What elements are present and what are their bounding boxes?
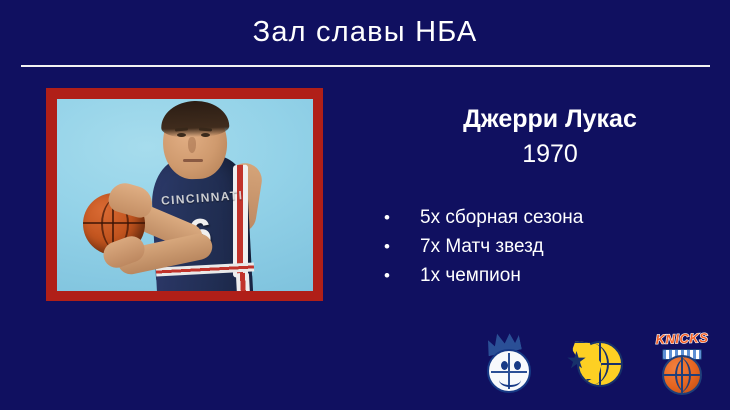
shorts-side-stripe [236,273,251,291]
team-logos: KNICKS [480,327,710,401]
knicks-ball [662,355,702,395]
royals-eye-right [514,361,521,370]
player-mouth [183,159,203,162]
knicks-wordmark: KNICKS [654,330,710,347]
new-york-knicks-logo: KNICKS [654,329,710,399]
slide-root: Зал славы НБА CINCINNATI 6 [0,0,730,410]
bullet-icon: • [379,203,420,232]
achievement-label: 1х чемпион [420,261,521,290]
achievements-list: • 5х сборная сезона • 7х Матч звезд • 1х… [379,203,719,290]
player-eye-left [177,133,186,137]
list-item: • 7х Матч звезд [379,232,719,261]
player-nose [188,137,196,153]
bullet-icon: • [379,261,420,290]
player-name: Джерри Лукас [370,104,730,134]
list-item: • 5х сборная сезона [379,203,719,232]
page-title: Зал славы НБА [0,14,730,50]
induction-year: 1970 [370,139,730,169]
knicks-seam-curve-right [675,357,701,393]
royals-smile [499,373,521,387]
list-item: • 1х чемпион [379,261,719,290]
achievement-label: 7х Матч звезд [420,232,544,261]
title-divider [21,65,710,67]
achievement-label: 5х сборная сезона [420,203,583,232]
royals-eye-left [501,361,508,370]
bullet-icon: • [379,232,420,261]
cincinnati-royals-logo [480,329,536,399]
player-photo-frame: CINCINNATI 6 [46,88,323,301]
jersey-side-stripe [233,165,248,278]
golden-state-warriors-logo [567,329,623,399]
player-eye-right [201,133,210,137]
player-photo: CINCINNATI 6 [57,99,313,291]
